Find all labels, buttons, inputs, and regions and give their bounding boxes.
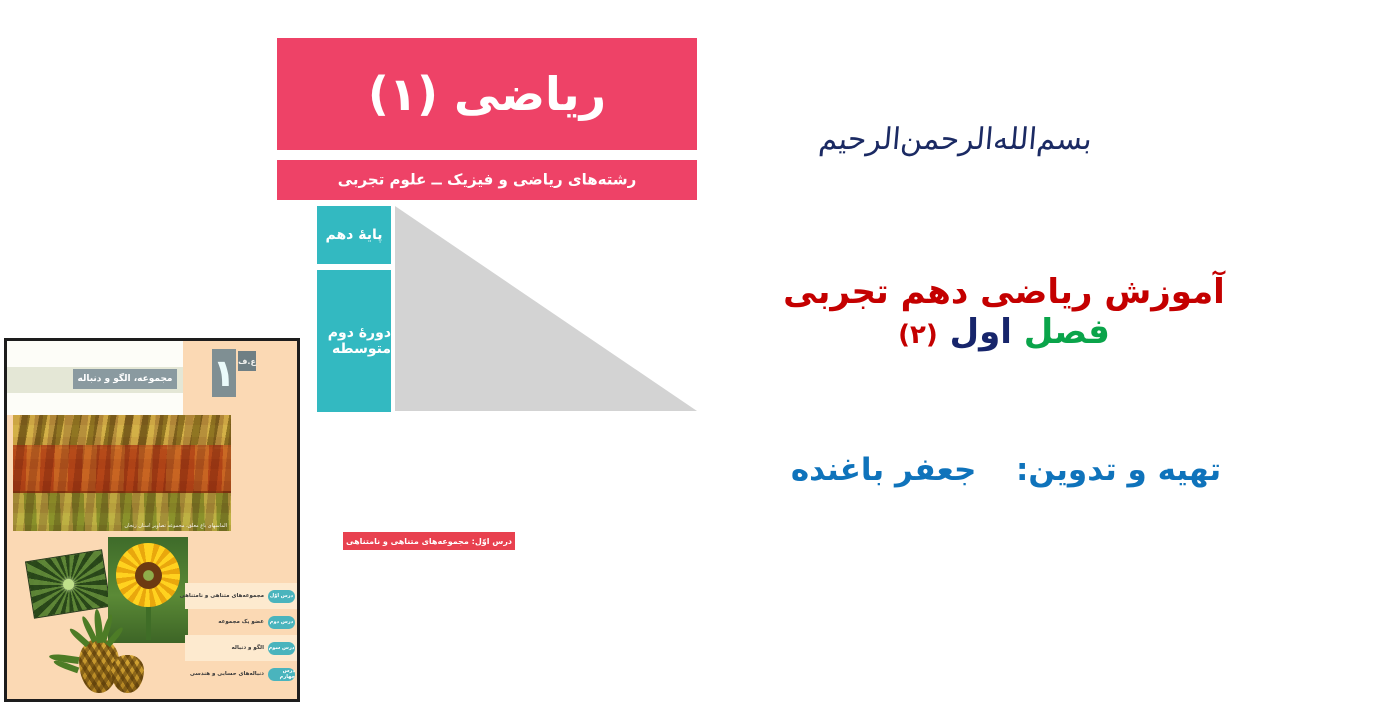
- cover-title-band: ریاضی (۱): [277, 38, 697, 150]
- lesson-badge: درس دوم: [268, 616, 295, 629]
- sets-textbook-cover: مجموعه، الگو و دنباله ۱ ع.ف الماسهای باغ…: [4, 338, 300, 702]
- lesson-list: درس اوّل مجموعه‌های متناهی و نامتناهی در…: [185, 583, 297, 687]
- list-item: درس سوم الگو و دنباله: [185, 635, 297, 661]
- cover-grade-badge: پایهٔ دهم: [317, 206, 391, 264]
- list-item: درس اوّل مجموعه‌های متناهی و نامتناهی: [185, 583, 297, 609]
- lesson-title: الگو و دنباله: [232, 645, 264, 651]
- lesson-title: دنباله‌های حسابی و هندسی: [190, 671, 264, 677]
- math-textbook-cover: ریاضی (۱) رشته‌های ریاضی و فیزیک ــ علوم…: [277, 38, 697, 403]
- slide-canvas: ریاضی (۱) رشته‌های ریاضی و فیزیک ــ علوم…: [0, 0, 1384, 705]
- landscape-photo: الماسهای باغ معلق، مجموعه تصاویر استان ز…: [13, 415, 231, 531]
- chapter-ordinal: اول: [950, 312, 1012, 352]
- lesson-badge: درس سوم: [268, 642, 295, 655]
- list-item: درس چهارم دنباله‌های حسابی و هندسی: [185, 661, 297, 687]
- photo-texture: [13, 415, 231, 531]
- cover-title: ریاضی (۱): [277, 71, 697, 117]
- sets-cover-title: مجموعه، الگو و دنباله: [73, 369, 177, 389]
- pineapple-body-small: [111, 655, 144, 693]
- lesson-badge: درس چهارم: [268, 668, 295, 681]
- cover-course-badge: دورهٔ دوم متوسطه: [317, 270, 391, 412]
- chapter-word: فصل: [1024, 312, 1110, 352]
- author-name: جعفر باغنده: [791, 452, 977, 488]
- lesson-title: عضو یک مجموعه: [218, 619, 264, 625]
- lesson-banner: درس اوّل: مجموعه‌های متناهی و نامتناهی: [343, 532, 515, 550]
- cover-subtitle: رشته‌های ریاضی و فیزیک ــ علوم تجربی: [277, 173, 697, 188]
- cover-gray-triangle: [395, 206, 697, 411]
- pineapple-photo: [43, 609, 153, 699]
- cover-top-panel-lower: [7, 393, 183, 415]
- photo-credit: الماسهای باغ معلق، مجموعه تصاویر استان ز…: [124, 523, 227, 529]
- page-title: آموزش ریاضی دهم تجربی فصل اول (۲): [744, 272, 1264, 352]
- publisher-logo-icon: ع.ف: [238, 351, 256, 371]
- basmala-text: بسم‌الله‌الرحمن‌الرحیم: [818, 122, 1094, 157]
- title-line-2: فصل اول (۲): [744, 312, 1264, 352]
- sets-cover-number-box: ۱: [212, 349, 236, 397]
- sunflower-disc: [135, 562, 162, 589]
- title-line-1: آموزش ریاضی دهم تجربی: [744, 272, 1264, 312]
- cover-subtitle-band: رشته‌های ریاضی و فیزیک ــ علوم تجربی: [277, 160, 697, 200]
- list-item: درس دوم عضو یک مجموعه: [185, 609, 297, 635]
- author-line: تهیه و تدوین: جعفر باغنده: [756, 452, 1256, 488]
- lesson-title: مجموعه‌های متناهی و نامتناهی: [180, 593, 265, 599]
- sets-cover-number: ۱: [212, 354, 235, 392]
- chapter-number: (۲): [898, 320, 938, 350]
- lesson-badge: درس اوّل: [268, 590, 295, 603]
- author-label: تهیه و تدوین:: [1016, 452, 1221, 488]
